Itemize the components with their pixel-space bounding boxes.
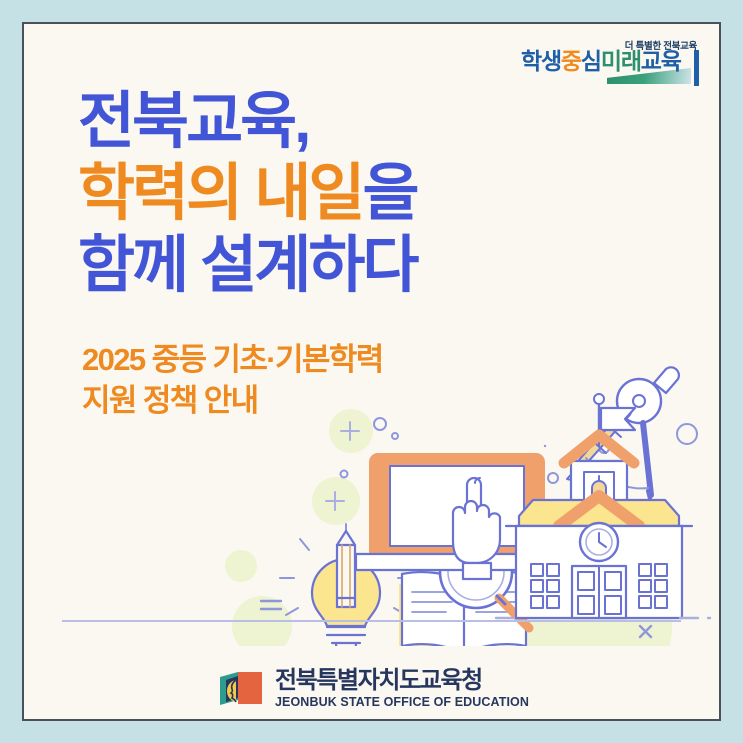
school-building-icon (506, 394, 692, 618)
education-illustration (26, 326, 717, 646)
page-title: 전북교육, 학력의 내일을 함께 설계하다 (78, 86, 416, 302)
footer-divider (62, 620, 681, 622)
headline-line-2: 학력의 내일을 (78, 158, 416, 230)
brand-word-haksaeng: 학생 (521, 48, 561, 74)
footer: 전북특별자치도교육청 JEONBUK STATE OFFICE OF EDUCA… (26, 666, 717, 712)
headline-line-1: 전북교육, (78, 86, 416, 158)
footer-text-block: 전북특별자치도교육청 JEONBUK STATE OFFICE OF EDUCA… (275, 668, 529, 709)
organization-name-en: JEONBUK STATE OFFICE OF EDUCATION (275, 695, 529, 710)
headline-line-2-emphasis: 학력의 내일 (78, 159, 362, 228)
headline-line-2-particle: 을 (362, 159, 416, 228)
brand-word-mirae: 미래 (601, 48, 641, 74)
organization-name-ko: 전북특별자치도교육청 (275, 668, 529, 693)
poster-card: 더 특별한 전북교육 학생중심미래교육 전북교육, 학력의 내일을 함께 설계하… (26, 26, 717, 717)
jeonbuk-logo-mark (214, 666, 264, 712)
brand-bar-shape (694, 50, 699, 86)
headline-line-3: 함께 설계하다 (78, 230, 416, 302)
poster-root: 더 특별한 전북교육 학생중심미래교육 전북교육, 학력의 내일을 함께 설계하… (0, 0, 743, 743)
brand-wordmark: 학생중심미래교육 (521, 50, 681, 73)
brand-logo: 더 특별한 전북교육 학생중심미래교육 (521, 38, 699, 98)
brand-word-sim: 심 (581, 48, 601, 74)
brand-word-gyoyuk: 교육 (641, 48, 681, 74)
brand-word-jung: 중 (561, 48, 581, 74)
